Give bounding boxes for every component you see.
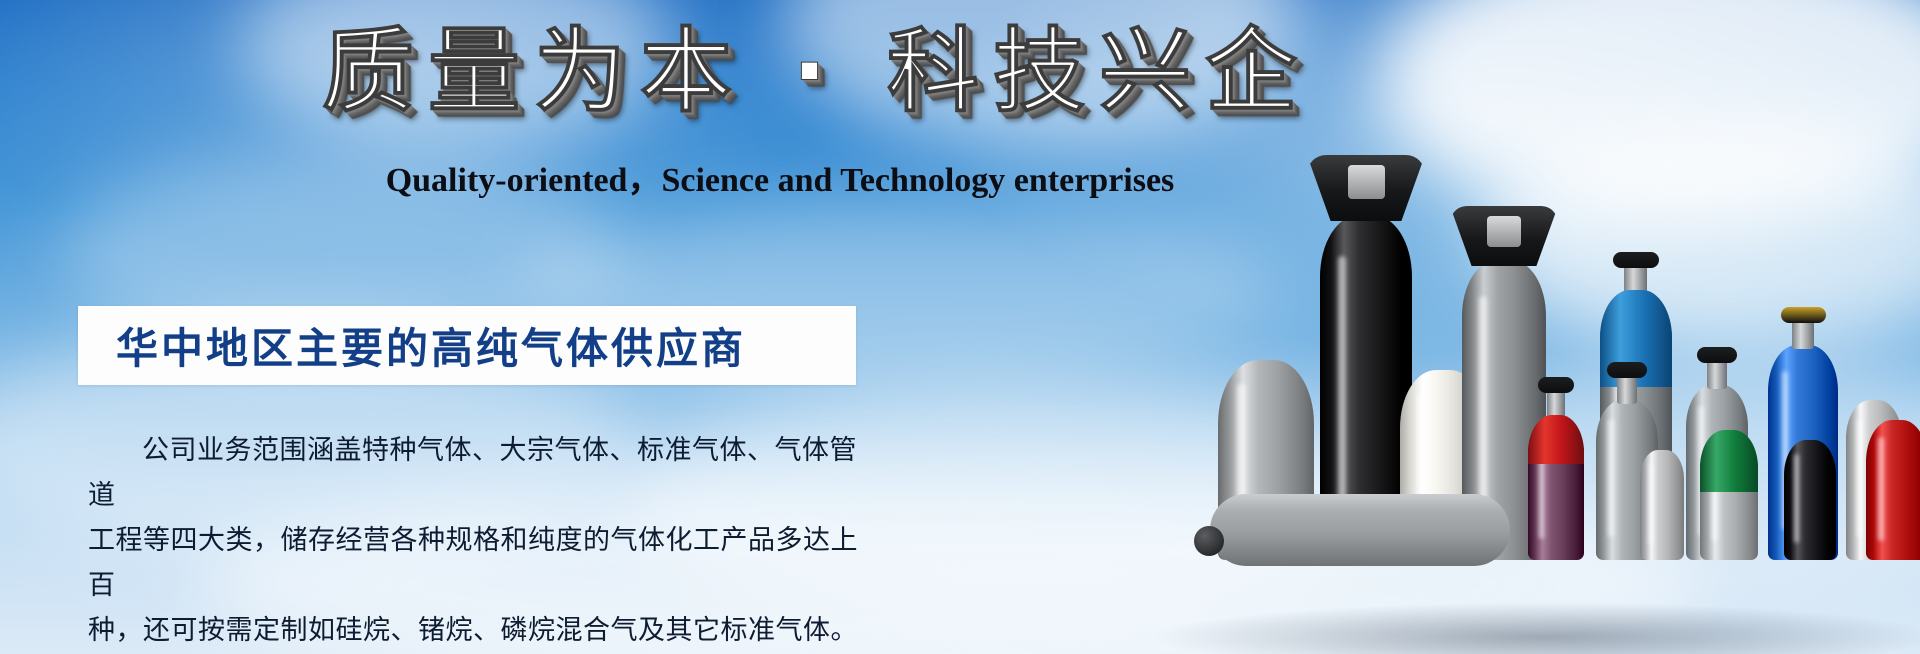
- cylinder-black-tall: [1320, 215, 1412, 560]
- cloud-low-right: [1420, 360, 1920, 600]
- cylinder-black-tall-cap: [1307, 155, 1425, 221]
- cylinder-grey-tall-left: [1218, 360, 1314, 560]
- cylinder-grey-tall-left-body: [1218, 360, 1314, 560]
- cylinder-grey-short-body: [1596, 400, 1658, 560]
- cylinder-red-purple-small-body: [1528, 415, 1584, 560]
- cylinder-blue-large: [1768, 345, 1838, 560]
- cylinder-grey-valve-valve-knob: [1697, 347, 1737, 363]
- description-paragraph: 公司业务范围涵盖特种气体、大宗气体、标准气体、气体管道 工程等四大类，储存经营各…: [88, 428, 860, 653]
- cylinder-alu-right-body: [1846, 400, 1902, 560]
- description-line-3: 种，还可按需定制如硅烷、锗烷、磷烷混合气及其它标准气体。: [88, 608, 860, 653]
- cloud-top-right: [1380, 0, 1920, 230]
- cylinder-blue-grey-neck: [1624, 264, 1647, 294]
- cylinder-green-band-highlight: [1712, 446, 1717, 542]
- tagline-box: 华中地区主要的高纯气体供应商: [78, 306, 856, 385]
- cylinder-white-medium-highlight: [1417, 393, 1425, 534]
- cylinder-grey-valve: [1686, 385, 1748, 560]
- cylinder-horizontal-grey-body: [1210, 494, 1510, 566]
- cylinder-grey-tall-2-cap: [1450, 206, 1558, 266]
- cylinder-blue-grey-body: [1600, 290, 1672, 560]
- description-line-2: 工程等四大类，储存经营各种规格和纯度的气体化工产品多达上百: [88, 518, 860, 608]
- cylinder-red-purple-small-highlight: [1539, 432, 1544, 539]
- cylinder-red-purple-small: [1528, 415, 1584, 560]
- cylinder-grey-tall-left-highlight: [1237, 384, 1246, 532]
- cylinder-red-right-body: [1866, 420, 1920, 560]
- cylinder-blue-grey-valve-knob: [1613, 252, 1659, 268]
- cylinder-green-band-body: [1700, 430, 1758, 560]
- cylinder-blue-grey-highlight: [1614, 322, 1620, 522]
- cylinder-grey-tall-2-valve: [1487, 216, 1521, 247]
- cloud-mid-right: [1480, 120, 1920, 350]
- cylinder-red-right-highlight: [1878, 437, 1884, 541]
- cylinder-blue-large-neck: [1792, 319, 1814, 349]
- cylinder-red-right: [1866, 420, 1920, 560]
- cylinder-horizontal-grey-valve: [1194, 526, 1224, 556]
- cylinder-blue-large-valve-knob: [1781, 307, 1826, 323]
- cylinder-grey-valve-body: [1686, 385, 1748, 560]
- cylinder-red-purple-small-shoulder-band: [1528, 415, 1584, 464]
- cylinder-alu-slim-body: [1640, 450, 1684, 560]
- cylinder-black-small: [1784, 440, 1836, 560]
- cylinder-horizontal-grey: [1210, 494, 1510, 566]
- cylinder-grey-short-highlight: [1608, 419, 1614, 537]
- cylinder-black-tall-highlight: [1338, 256, 1346, 511]
- cylinder-blue-grey-shoulder-band: [1600, 290, 1672, 387]
- cylinder-grey-valve-neck: [1707, 359, 1727, 389]
- cylinder-blue-grey: [1600, 290, 1672, 560]
- cylinder-grey-tall-2-highlight: [1479, 296, 1487, 518]
- headline-chinese: 质量为本 · 科技兴企: [322, 18, 1242, 126]
- cylinder-green-band-shoulder-band: [1700, 430, 1758, 492]
- cylinder-black-small-body: [1784, 440, 1836, 560]
- description-line-1: 公司业务范围涵盖特种气体、大宗气体、标准气体、气体管道: [88, 428, 860, 518]
- cylinder-alu-right: [1846, 400, 1902, 560]
- cylinder-alu-slim: [1640, 450, 1684, 560]
- cylinder-blue-large-highlight: [1782, 371, 1788, 530]
- cylinder-red-purple-small-neck: [1547, 389, 1565, 419]
- cylinder-white-medium: [1400, 370, 1486, 560]
- cylinder-white-medium-body: [1400, 370, 1486, 560]
- cylinder-black-tall-body: [1320, 215, 1412, 560]
- cylinder-grey-tall-2-body: [1462, 260, 1546, 560]
- cylinder-black-tall-valve: [1348, 165, 1385, 199]
- cylinder-grey-short-valve-knob: [1607, 362, 1647, 378]
- cylinder-alu-slim-highlight: [1649, 463, 1653, 544]
- cylinder-ground-shadow: [1150, 602, 1920, 654]
- tagline-text: 华中地区主要的高纯气体供应商: [78, 315, 746, 376]
- cylinder-red-purple-small-valve-knob: [1538, 377, 1574, 393]
- cylinder-grey-short-neck: [1617, 374, 1637, 404]
- cylinder-blue-large-body: [1768, 345, 1838, 560]
- promo-banner: 质量为本 · 科技兴企 Quality-oriented，Science and…: [0, 0, 1920, 654]
- cylinder-alu-right-highlight: [1857, 419, 1862, 537]
- cylinder-grey-valve-highlight: [1698, 406, 1704, 536]
- cylinder-grey-tall-2: [1462, 260, 1546, 560]
- cylinder-grey-short: [1596, 400, 1658, 560]
- cylinder-black-small-highlight: [1794, 454, 1799, 543]
- subtitle-english: Quality-oriented，Science and Technology …: [330, 160, 1230, 202]
- cylinder-green-band: [1700, 430, 1758, 560]
